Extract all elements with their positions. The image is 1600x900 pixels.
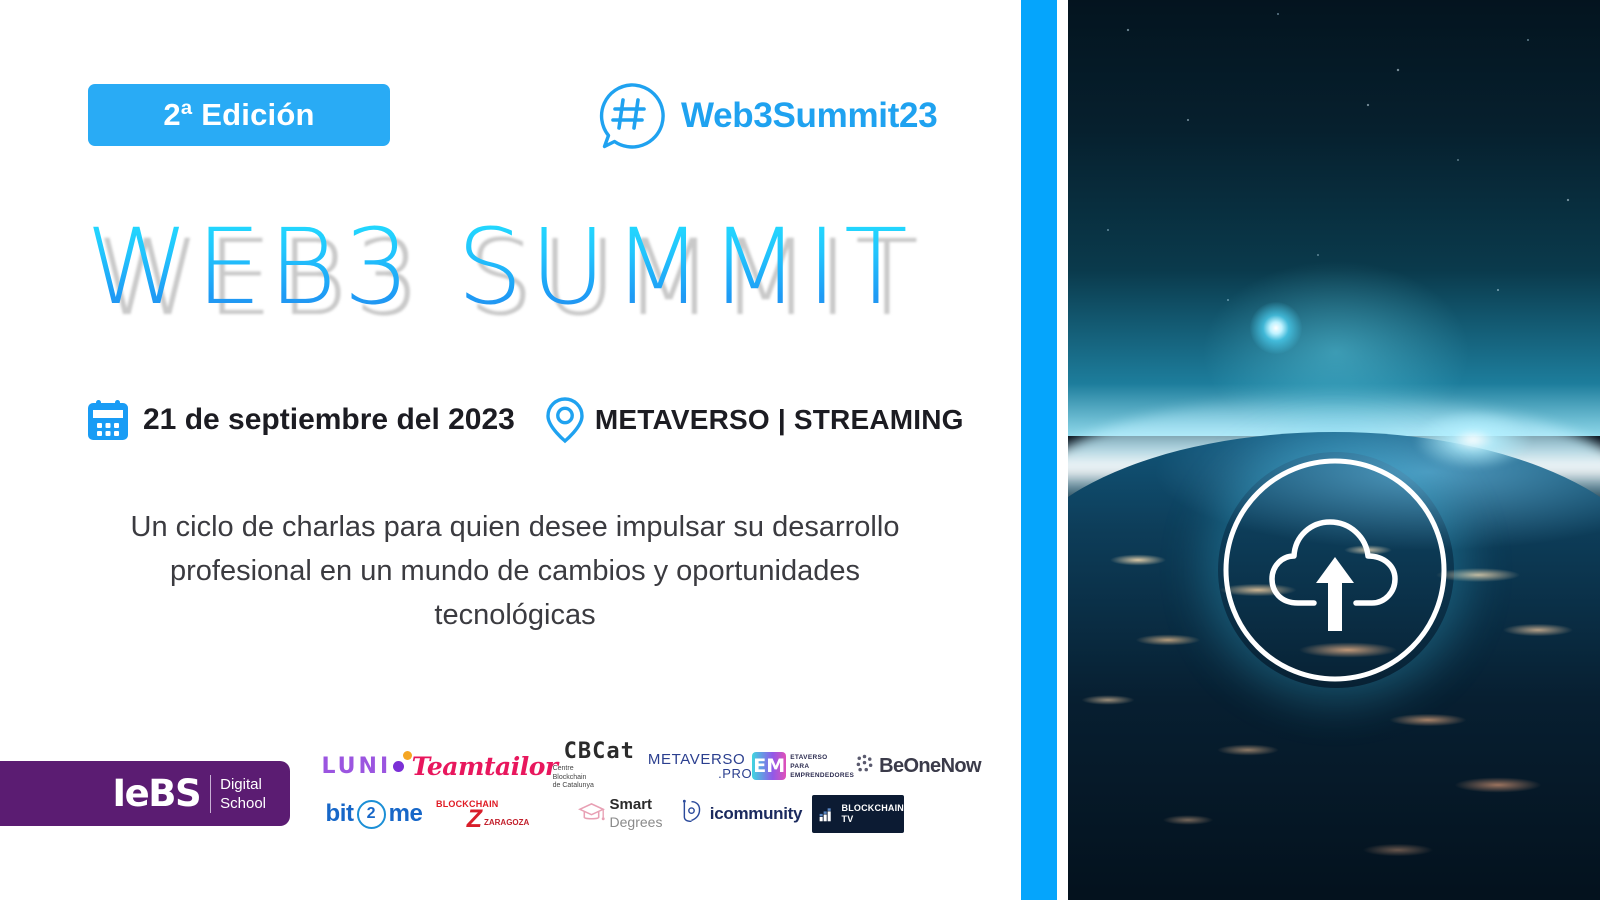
sponsor-bit2me-logo: bit 2 me [316,792,432,836]
sponsor-row-1: LUNI Teamtailor CBCat Centre Blockchain … [316,744,981,788]
sponsor-icommunity-logo: icommunity [676,792,804,836]
sponsor-blockchain-tv-logo: BLOCKCHAIN TV [804,792,912,836]
web3-summit-promo-banner: 2ª Edición Web3Summit23 WEB3 SUMMIT [0,0,1600,900]
hashtag-text: Web3Summit23 [681,96,937,136]
iebs-tagline-line1: Digital [220,776,262,793]
lunio-accent-dot-icon [403,751,412,760]
cbcat-sub3: de Catalunya [553,782,594,789]
event-location: METAVERSO | STREAMING [595,404,964,436]
stars-field [1068,0,1600,420]
em-subtitle: ETAVERSO PARA EMPRENDEDORES [790,753,854,780]
icommunity-mark-icon [678,799,705,829]
map-pin-icon [545,396,585,444]
event-meta-row: 21 de septiembre del 2023 METAVERSO | ST… [86,396,964,444]
event-date: 21 de septiembre del 2023 [143,403,515,437]
smart-degrees-line2: Degrees [610,814,663,830]
cbcat-subtitle: Centre Blockchain de Catalunya [551,765,648,791]
sponsor-row-2: bit 2 me BLOCKCHAIN Z ZARAGOZA [316,792,981,836]
smart-degrees-wordmark: Smart Degrees [610,796,663,832]
iebs-tagline-line2: School [220,795,266,812]
lunio-dot-icon [393,761,404,772]
em-sub3: EMPRENDEDORES [790,772,854,779]
cbcat-wordmark: CBCat [564,741,635,763]
metaverso-pro-suffix: .PRO [718,766,752,781]
sponsor-teamtailor-logo: Teamtailor [419,744,551,788]
blue-divider-bar [1021,0,1057,900]
page-title: WEB3 SUMMIT WEB3 SUMMIT [86,202,986,332]
edition-badge-label: 2ª Edición [163,97,314,133]
blockchain-zaragoza-city: ZARAGOZA [484,818,529,827]
beonenow-wordmark: BeOneNow [879,755,981,778]
smart-degrees-line1: Smart [610,796,653,813]
em-badge-icon: EM [752,752,786,780]
iebs-logo: IeBS Digital School [0,761,290,826]
sponsor-beonenow-logo: BeOneNow [854,744,981,788]
bit2me-part2: me [389,800,423,828]
panel-white-gap [1057,0,1068,900]
graduation-cap-icon [578,801,605,828]
teamtailor-wordmark: Teamtailor [412,752,558,781]
sponsor-smart-degrees-logo: Smart Degrees [564,792,676,836]
cloud-upload-icon [1220,455,1450,685]
lunio-wordmark: LUNI [321,754,391,779]
icommunity-wordmark: icommunity [710,804,802,824]
em-sub1: ETAVERSO [790,754,827,761]
bit2me-circle-icon: 2 [357,800,386,829]
bright-star-icon [1250,302,1302,354]
calendar-icon [86,398,130,442]
blockchain-tv-text: BLOCKCHAIN TV [842,803,905,825]
blockchain-zaragoza-z-icon: Z [467,809,482,829]
page-title-text: WEB3 SUMMIT [86,202,915,332]
sponsor-blockchain-zaragoza-logo: BLOCKCHAIN Z ZARAGOZA [432,792,564,836]
sponsor-metaverso-emprendedores-logo: EM ETAVERSO PARA EMPRENDEDORES [752,744,854,788]
cbcat-sub2: Blockchain [553,774,587,781]
blockchain-zaragoza-bottom: Z ZARAGOZA [467,809,530,829]
blockchain-zaragoza-top: BLOCKCHAIN [432,799,499,809]
sponsor-logo-grid: LUNI Teamtailor CBCat Centre Blockchain … [316,744,981,836]
event-description: Un ciclo de charlas para quien desee imp… [105,505,925,637]
iebs-tagline: Digital School [220,775,266,813]
em-sub2: PARA [790,763,809,770]
blockchain-tv-line1: BLOCKCHAIN [842,803,905,813]
left-content-panel: 2ª Edición Web3Summit23 WEB3 SUMMIT [0,0,1021,900]
bit2me-part1: bit [325,800,353,828]
hashtag-block: Web3Summit23 [595,80,937,152]
sponsor-metaverso-pro-logo: METAVERSO .PRO [648,744,752,788]
edition-badge: 2ª Edición [88,84,390,146]
sponsor-lunio-logo: LUNI [316,744,419,788]
earth-from-space-photo [1068,0,1600,900]
blockchain-tv-badge: BLOCKCHAIN TV [812,795,904,833]
bar-chart-icon [819,804,838,825]
iebs-divider [210,775,211,813]
blockchain-tv-line2: TV [842,814,854,824]
iebs-wordmark: IeBS [112,772,200,815]
cbcat-sub1: Centre [553,765,574,772]
beonenow-mark-icon [854,753,875,779]
sponsor-cbcat-logo: CBCat Centre Blockchain de Catalunya [551,744,648,788]
hashtag-speech-bubble-icon [595,80,667,152]
